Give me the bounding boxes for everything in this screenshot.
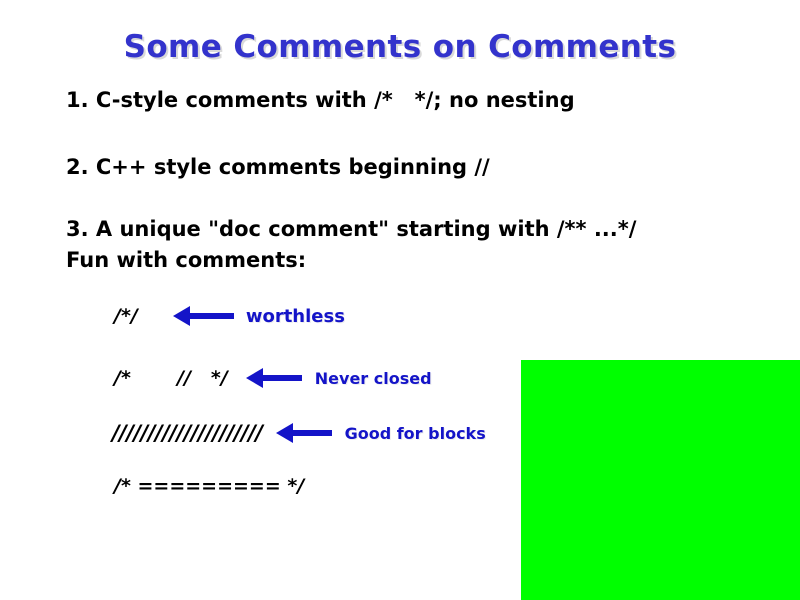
left-arrow-icon — [246, 368, 302, 388]
annotation-label-2: Never closed — [315, 369, 432, 388]
code-snippet-3: ///////////////////// — [112, 421, 263, 445]
example-row-2: /* // */ Never closed — [114, 367, 432, 389]
page-title: Some Comments on Comments — [0, 29, 800, 65]
bullet-item-3: 3. A unique "doc comment" starting with … — [66, 214, 636, 276]
green-image-placeholder — [521, 360, 800, 600]
left-arrow-icon — [276, 423, 332, 443]
bullet-item-1: 1. C-style comments with /* */; no nesti… — [66, 85, 575, 116]
example-row-3: ///////////////////// Good for blocks — [112, 421, 486, 445]
example-row-4: /* ========= */ — [114, 475, 304, 497]
annotation-label-1: worthless — [246, 306, 345, 327]
bullet-item-2: 2. C++ style comments beginning // — [66, 152, 490, 183]
example-row-1: /*/ worthless — [114, 305, 345, 327]
annotation-label-3: Good for blocks — [345, 424, 486, 443]
code-snippet-1: /*/ — [114, 305, 138, 327]
code-snippet-4: /* ========= */ — [114, 475, 304, 497]
slide-canvas: Some Comments on Comments 1. C-style com… — [0, 0, 800, 600]
code-snippet-2: /* // */ — [114, 367, 228, 389]
left-arrow-icon — [173, 306, 234, 326]
